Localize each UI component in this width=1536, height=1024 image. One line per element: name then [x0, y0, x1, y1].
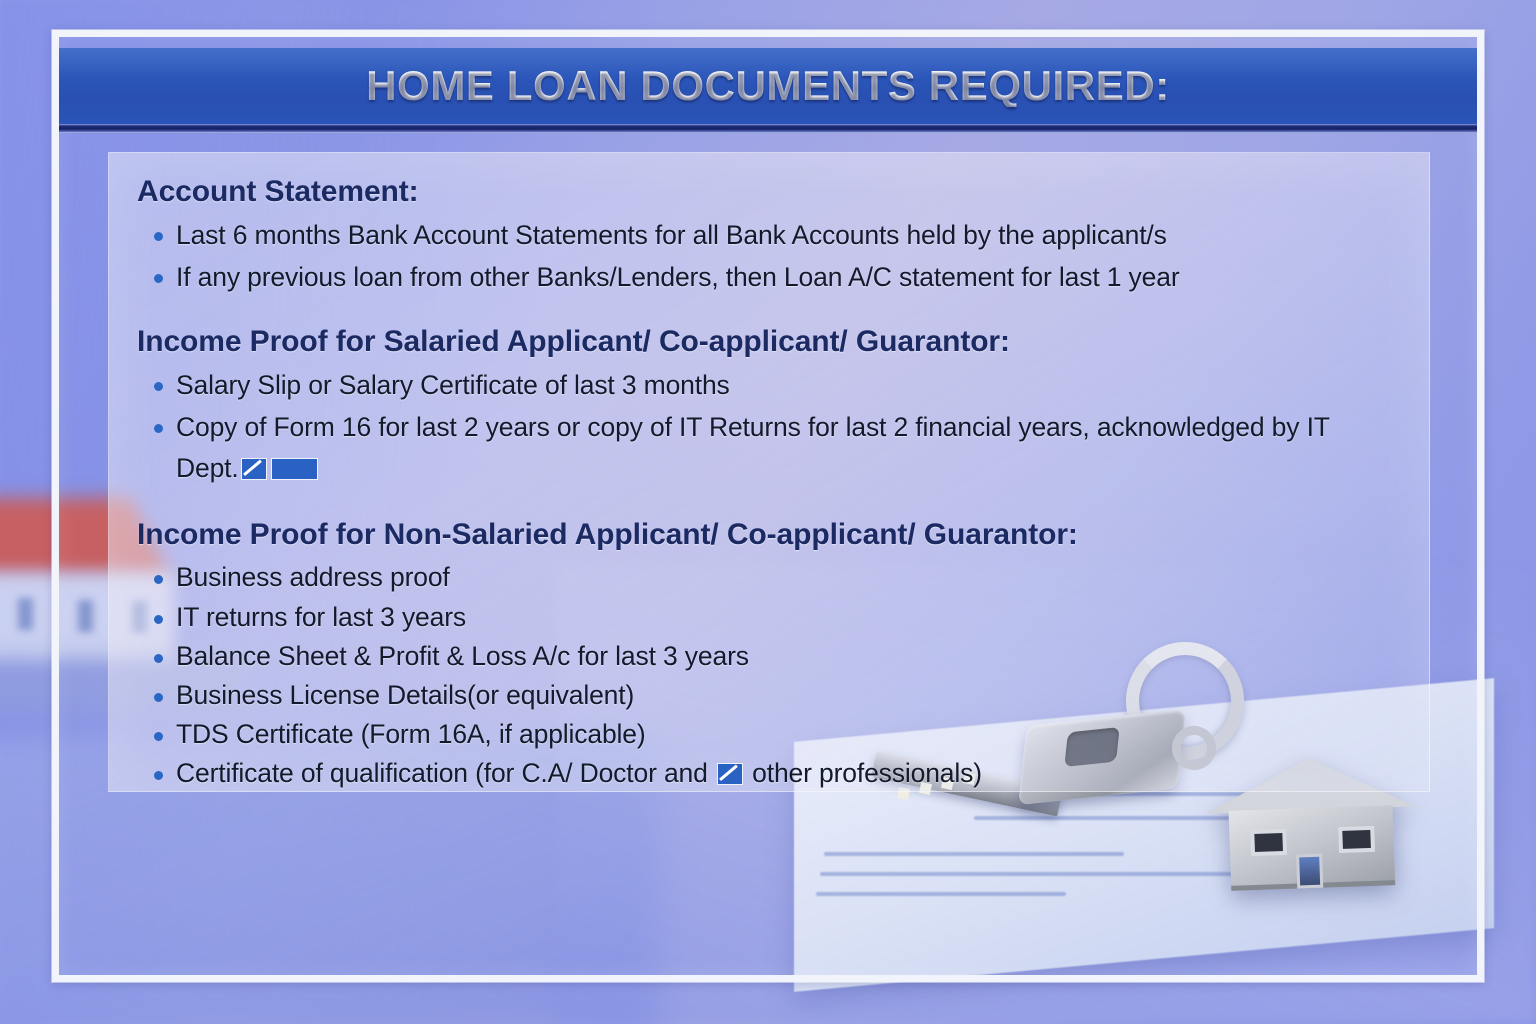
list-item: Business License Details(or equivalent) [137, 676, 1395, 715]
list-item: Business address proof [137, 558, 1395, 597]
section-heading-salaried-income-proof: Income Proof for Salaried Applicant/ Co-… [137, 325, 1395, 359]
list-item: TDS Certificate (Form 16A, if applicable… [137, 715, 1395, 754]
page-title: HOME LOAN DOCUMENTS REQUIRED: [366, 65, 1170, 107]
bullet-list-salaried-income-proof: Salary Slip or Salary Certificate of las… [137, 365, 1395, 491]
list-item: Balance Sheet & Profit & Loss A/c for la… [137, 637, 1395, 676]
list-item-with-glyph: Copy of Form 16 for last 2 years or copy… [137, 407, 1395, 491]
missing-glyph-icon [241, 458, 267, 480]
title-bar: HOME LOAN DOCUMENTS REQUIRED: [59, 48, 1477, 124]
section-heading-account-statement: Account Statement: [137, 175, 1395, 209]
missing-glyph-icon [717, 763, 743, 785]
missing-glyph-bar-icon [271, 458, 318, 480]
bullet-list-account-statement: Last 6 months Bank Account Statements fo… [137, 215, 1395, 299]
list-item: Last 6 months Bank Account Statements fo… [137, 215, 1395, 257]
list-item-text: Copy of Form 16 for last 2 years or copy… [176, 412, 1329, 484]
list-item: IT returns for last 3 years [137, 598, 1395, 637]
title-underline-accent [59, 124, 1477, 133]
section-heading-non-salaried-income-proof: Income Proof for Non-Salaried Applicant/… [137, 518, 1395, 552]
list-item-text-after: other professionals) [752, 758, 982, 788]
list-item-with-glyph: Certificate of qualification (for C.A/ D… [137, 754, 1395, 793]
bullet-list-non-salaried-income-proof: Business address proof IT returns for la… [137, 558, 1395, 793]
list-item: Salary Slip or Salary Certificate of las… [137, 365, 1395, 407]
list-item-text: Certificate of qualification (for C.A/ D… [176, 758, 708, 788]
list-item: If any previous loan from other Banks/Le… [137, 257, 1395, 299]
background-house-window-icon [18, 598, 33, 630]
content-panel: Account Statement: Last 6 months Bank Ac… [108, 152, 1430, 792]
slide-canvas: HOME LOAN DOCUMENTS REQUIRED: Account St… [0, 0, 1536, 1024]
